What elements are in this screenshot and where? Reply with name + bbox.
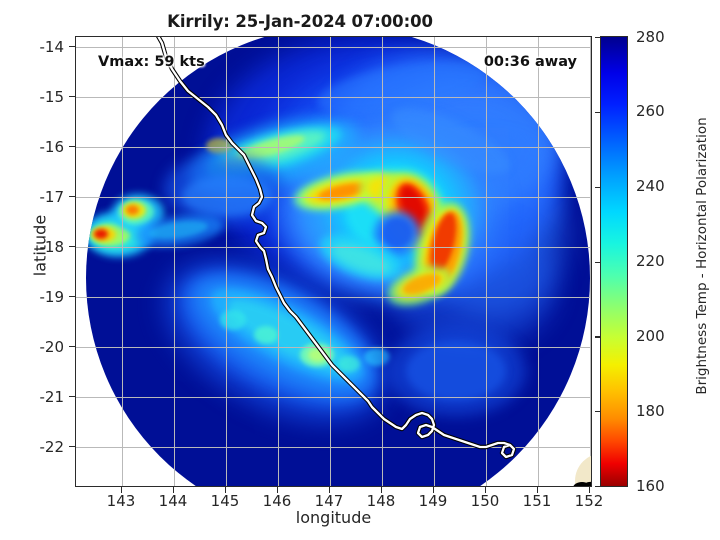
plot-canvas: Vmax: 59 kts 00:36 away CIMSS (76, 37, 591, 486)
y-axis-title: latitude (31, 186, 50, 306)
colorbar (600, 36, 628, 487)
colorbar-tick (595, 411, 601, 412)
colorbar-tick-label: 220 (636, 252, 665, 270)
ytick-label: -21 (18, 388, 64, 406)
ytick (69, 96, 75, 97)
ytick-label: -15 (18, 88, 64, 106)
time-away-annotation: 00:36 away (484, 54, 577, 70)
ytick-label: -22 (18, 438, 64, 456)
colorbar-tick (595, 336, 601, 337)
page-title: Kirrily: 25-Jan-2024 07:00:00 (0, 12, 600, 31)
colorbar-tick (595, 37, 601, 38)
colorbar-tick-label: 280 (636, 28, 665, 46)
colorbar-tick (595, 262, 601, 263)
plot-area: Vmax: 59 kts 00:36 away CIMSS (75, 36, 592, 487)
colorbar-tick-label: 160 (636, 477, 665, 495)
colorbar-tick (595, 112, 601, 113)
ytick (69, 346, 75, 347)
cimss-logo: CIMSS (556, 447, 591, 486)
ytick (69, 46, 75, 47)
ytick (69, 146, 75, 147)
colorbar-tick (595, 187, 601, 188)
coastline-overlay (76, 37, 591, 486)
vmax-annotation: Vmax: 59 kts (98, 54, 205, 70)
ytick (69, 296, 75, 297)
colorbar-tick-label: 180 (636, 402, 665, 420)
ytick (69, 246, 75, 247)
ytick (69, 396, 75, 397)
colorbar-tick (595, 486, 601, 487)
colorbar-title: Brightness Temp - Horizontal Polarizatio… (694, 36, 710, 476)
ytick-label: -16 (18, 138, 64, 156)
figure-root: Kirrily: 25-Jan-2024 07:00:00 (0, 0, 720, 540)
colorbar-tick-label: 200 (636, 327, 665, 345)
ytick (69, 446, 75, 447)
x-axis-title: longitude (75, 508, 592, 527)
colorbar-tick-label: 240 (636, 177, 665, 195)
ytick-label: -20 (18, 338, 64, 356)
ytick (69, 196, 75, 197)
colorbar-tick-label: 260 (636, 102, 665, 120)
ytick-label: -14 (18, 38, 64, 56)
